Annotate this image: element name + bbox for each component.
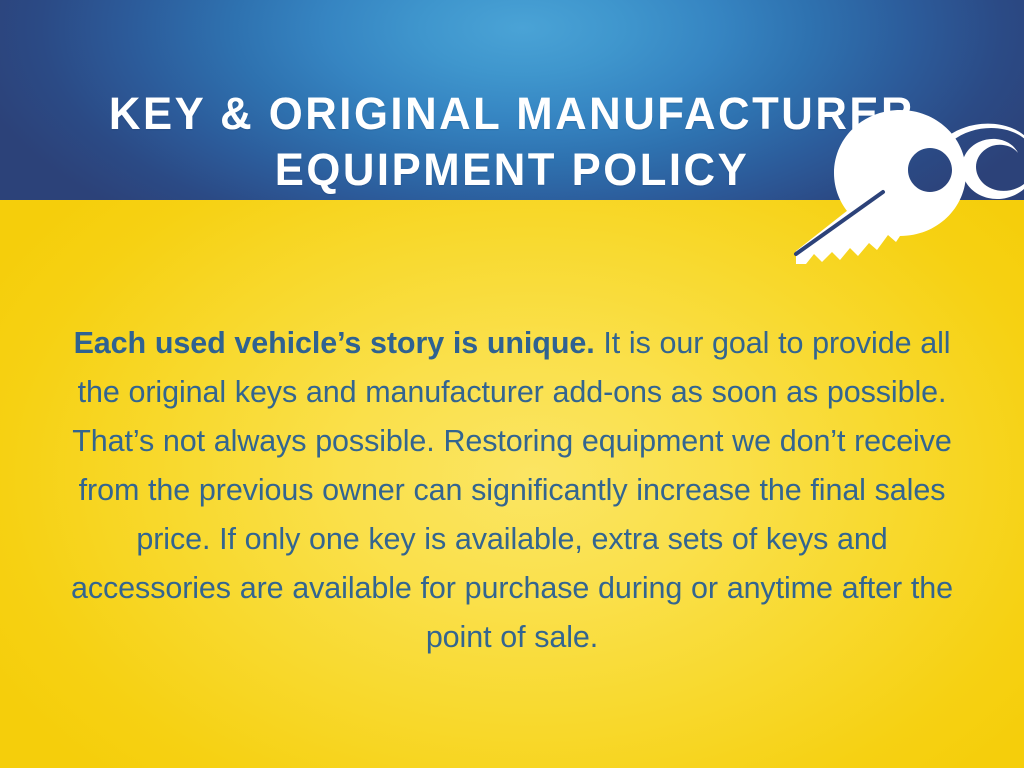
page-title: KEY & ORIGINAL MANUFACTURER EQUIPMENT PO… <box>15 30 1008 198</box>
header-band: KEY & ORIGINAL MANUFACTURER EQUIPMENT PO… <box>0 0 1024 200</box>
policy-paragraph-rest: It is our goal to provide all the origin… <box>71 326 953 654</box>
policy-body-text: Each used vehicle’s story is unique. It … <box>62 319 962 662</box>
policy-lead-sentence: Each used vehicle’s story is unique. <box>74 326 595 360</box>
policy-slide: KEY & ORIGINAL MANUFACTURER EQUIPMENT PO… <box>0 0 1024 768</box>
